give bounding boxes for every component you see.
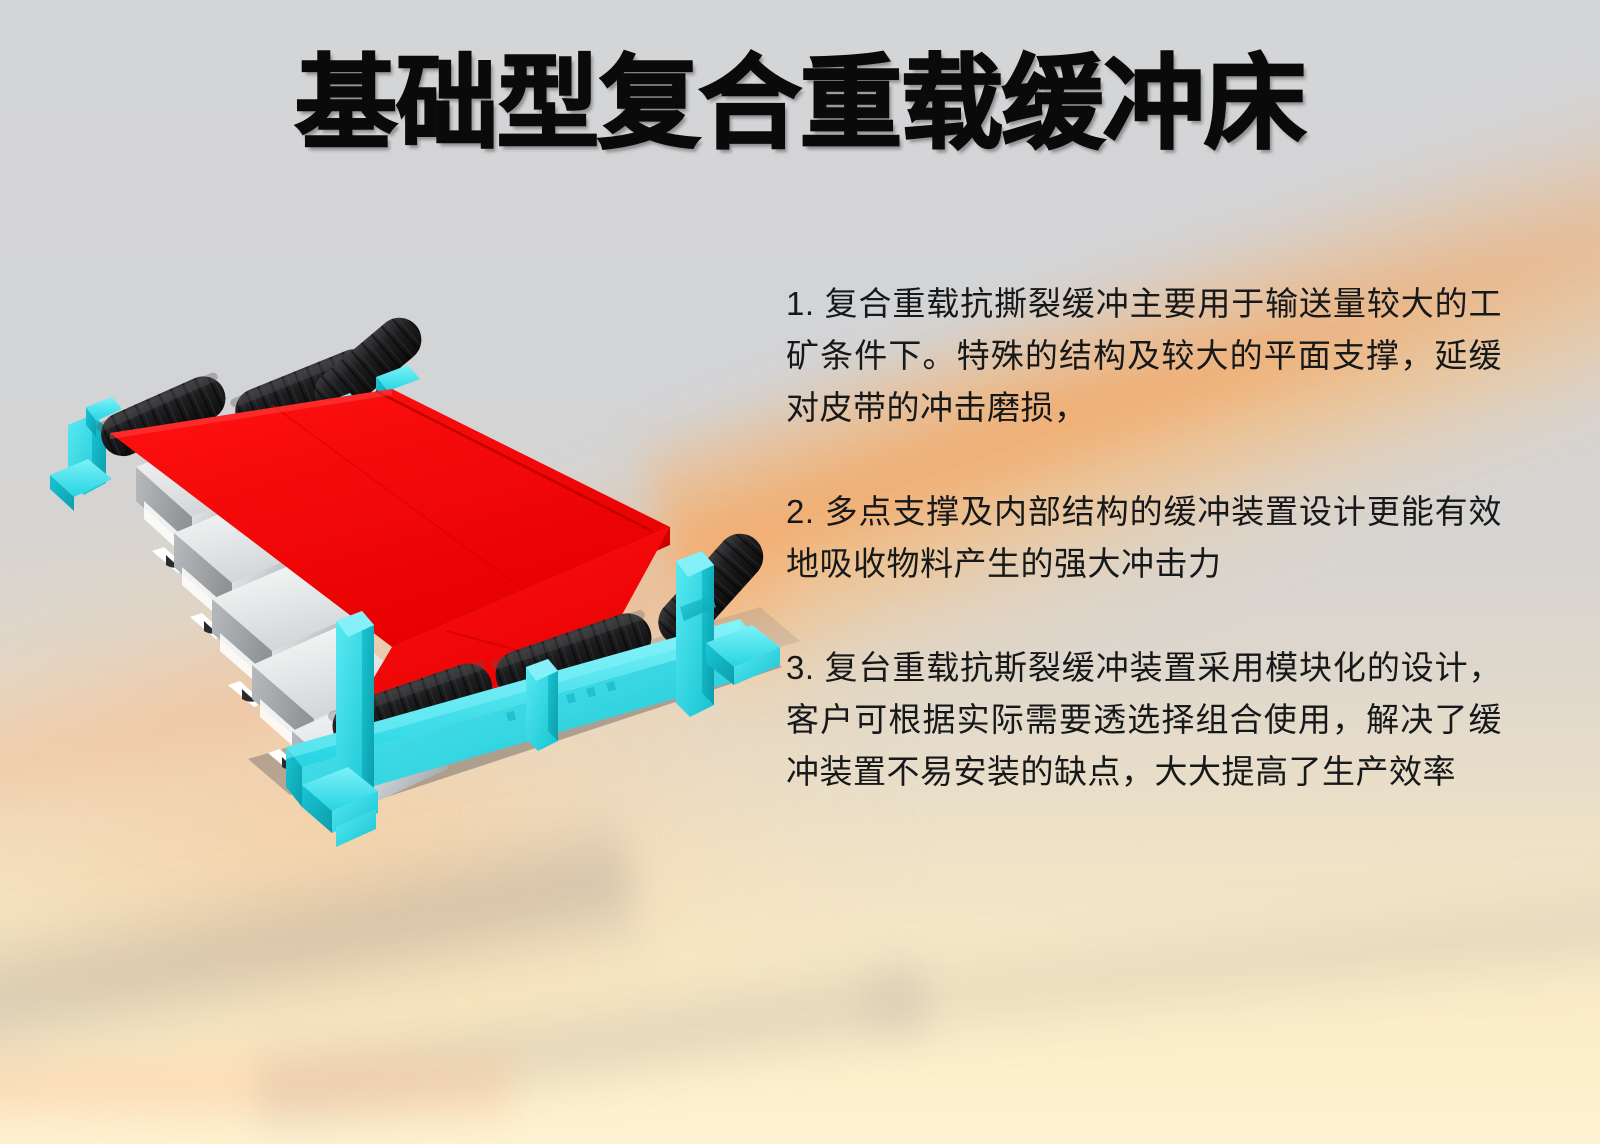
copy-paragraph-1: 1. 复合重载抗撕裂缓冲主要用于输送量较大的工矿条件下。特殊的结构及较大的平面支… bbox=[786, 278, 1502, 434]
poster-canvas: 基础型复合重载缓冲床 bbox=[0, 0, 1600, 1144]
copy-paragraph-2: 2. 多点支撑及内部结构的缓冲装置设计更能有效地吸收物料产生的强大冲击力 bbox=[786, 486, 1502, 590]
support-leg bbox=[526, 659, 558, 751]
cloud-peach-bottom bbox=[0, 1030, 512, 1144]
support-leg bbox=[676, 551, 716, 717]
page-title: 基础型复合重载缓冲床 bbox=[0, 46, 1600, 164]
copy-paragraph-3: 3. 复台重载抗斯裂缓冲装置采用模块化的设计，客户可根据实际需要透选择组合使用，… bbox=[786, 642, 1502, 798]
impact-buffer-bed-illustration bbox=[40, 355, 820, 875]
description-copy: 1. 复合重载抗撕裂缓冲主要用于输送量较大的工矿条件下。特殊的结构及较大的平面支… bbox=[786, 278, 1502, 798]
